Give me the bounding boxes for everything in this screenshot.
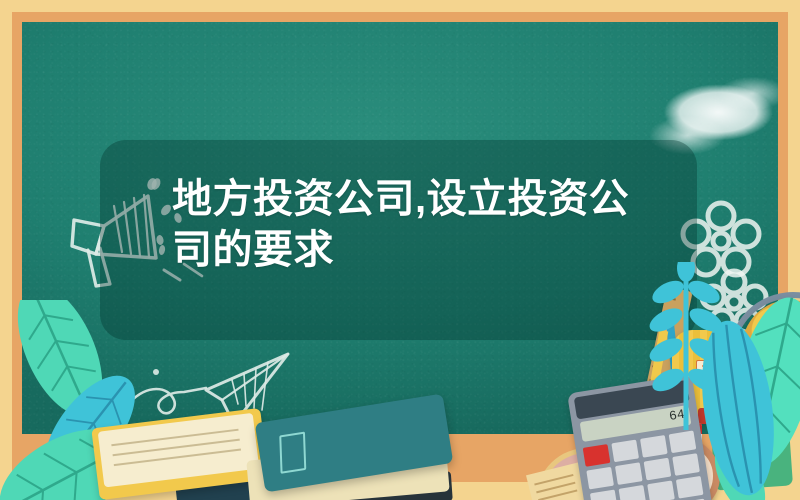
- poster-canvas: 地方投资公司,设立投资公 司的要求: [0, 0, 800, 500]
- book-yellow-pages: [98, 413, 260, 488]
- leaf-stripe-icon: [684, 316, 800, 500]
- page-title: 地方投资公司,设立投资公 司的要求: [172, 174, 642, 276]
- page-title-line-1: 地方投资公司,设立投资公: [172, 174, 642, 225]
- page-title-line-2: 司的要求: [172, 225, 642, 276]
